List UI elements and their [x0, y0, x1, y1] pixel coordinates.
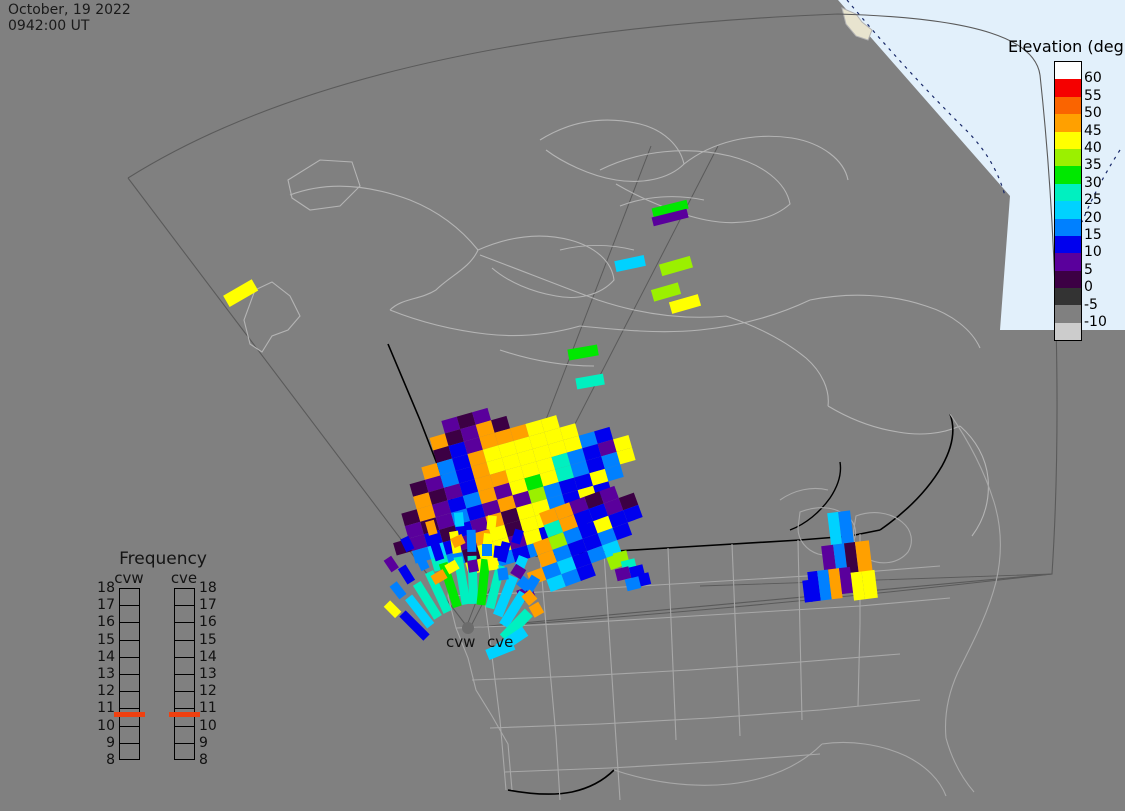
frequency-bar-segment — [120, 675, 139, 692]
frequency-bar-segment — [120, 589, 139, 606]
elevation-color-cell — [1055, 271, 1081, 288]
elevation-color-cell — [1055, 62, 1081, 79]
frequency-tick-label: 15 — [88, 633, 115, 647]
elevation-color-cell — [1055, 149, 1081, 166]
radar-map-canvas: October, 19 20220942:00 UT cvw cve Eleva… — [0, 0, 1125, 811]
elevation-color-cell — [1055, 166, 1081, 183]
frequency-tick-label: 12 — [88, 684, 115, 698]
frequency-bar-segment — [120, 692, 139, 709]
frequency-bar-segment — [175, 606, 194, 623]
frequency-tick-label: 14 — [199, 650, 226, 664]
frequency-bar-segment — [175, 744, 194, 761]
elevation-tick-label: 10 — [1084, 245, 1102, 259]
frequency-tick-label: 17 — [88, 598, 115, 612]
timestamp: October, 19 20220942:00 UT — [8, 2, 131, 34]
elevation-tick-label: 60 — [1084, 71, 1102, 85]
timestamp-time: 0942:00 UT — [8, 18, 89, 34]
elevation-tick-label: 50 — [1084, 106, 1102, 120]
timestamp-date: October, 19 2022 — [8, 2, 131, 18]
frequency-bar-segment — [120, 641, 139, 658]
elevation-color-cell — [1055, 114, 1081, 131]
elevation-color-cell — [1055, 236, 1081, 253]
frequency-tick-label: 13 — [88, 667, 115, 681]
elevation-color-cell — [1055, 132, 1081, 149]
frequency-tick-label: 16 — [88, 615, 115, 629]
site-label-cvw: cvw — [446, 634, 475, 650]
elevation-legend-title: Elevation (deg) — [1008, 38, 1125, 56]
frequency-title: Frequency — [88, 550, 238, 568]
frequency-bar-segment — [120, 727, 139, 744]
elevation-color-cell — [1055, 97, 1081, 114]
frequency-bar-segment — [120, 744, 139, 761]
frequency-marker-cve — [169, 712, 200, 717]
elevation-tick-label: -10 — [1084, 315, 1107, 329]
elevation-tick-label: 25 — [1084, 193, 1102, 207]
frequency-tick-label: 10 — [199, 719, 226, 733]
frequency-tick-label: 13 — [199, 667, 226, 681]
frequency-bar-segment — [175, 641, 194, 658]
elevation-tick-label: 45 — [1084, 124, 1102, 138]
frequency-bar-cve[interactable] — [174, 588, 195, 760]
frequency-tick-label: 8 — [88, 753, 115, 767]
frequency-tick-label: 14 — [88, 650, 115, 664]
elevation-legend: Elevation (deg) 605550454035302520151050… — [1008, 38, 1125, 56]
frequency-tick-label: 18 — [88, 581, 115, 595]
elevation-tick-label: 30 — [1084, 176, 1102, 190]
frequency-tick-label: 12 — [199, 684, 226, 698]
frequency-bar-segment — [175, 658, 194, 675]
frequency-bar-segment — [175, 727, 194, 744]
frequency-bar-cvw[interactable] — [119, 588, 140, 760]
elevation-tick-label: 15 — [1084, 228, 1102, 242]
elevation-tick-label: 0 — [1084, 280, 1093, 294]
frequency-tick-label: 11 — [88, 701, 115, 715]
elevation-colorbar — [1054, 61, 1082, 341]
elevation-tick-label: -5 — [1084, 298, 1098, 312]
frequency-tick-label: 9 — [88, 736, 115, 750]
frequency-tick-label: 8 — [199, 753, 226, 767]
frequency-panel: Frequency cvw cve 1818171716161515141413… — [88, 550, 238, 775]
frequency-tick-label: 18 — [199, 581, 226, 595]
frequency-bar-segment — [175, 692, 194, 709]
elevation-color-cell — [1055, 79, 1081, 96]
elevation-color-cell — [1055, 323, 1081, 340]
frequency-tick-label: 11 — [199, 701, 226, 715]
echo-cell — [567, 200, 701, 390]
frequency-marker-cvw — [114, 712, 145, 717]
elevation-color-cell — [1055, 253, 1081, 270]
frequency-bar-segment — [175, 623, 194, 640]
frequency-bar-segment — [120, 623, 139, 640]
elevation-color-cell — [1055, 305, 1081, 322]
elevation-color-cell — [1055, 201, 1081, 218]
elevation-color-cell — [1055, 219, 1081, 236]
frequency-tick-label: 17 — [199, 598, 226, 612]
frequency-tick-label: 9 — [199, 736, 226, 750]
frequency-bar-segment — [175, 589, 194, 606]
frequency-tick-label: 16 — [199, 615, 226, 629]
echo-cluster-detached — [613, 550, 651, 591]
elevation-tick-label: 40 — [1084, 141, 1102, 155]
elevation-color-cell — [1055, 184, 1081, 201]
frequency-tick-label: 10 — [88, 719, 115, 733]
frequency-tick-label: 15 — [199, 633, 226, 647]
elevation-tick-label: 20 — [1084, 211, 1102, 225]
elevation-color-cell — [1055, 288, 1081, 305]
site-label-cve: cve — [487, 634, 513, 650]
frequency-bar-segment — [120, 606, 139, 623]
elevation-tick-label: 35 — [1084, 158, 1102, 172]
elevation-tick-label: 55 — [1084, 89, 1102, 103]
frequency-bar-segment — [175, 675, 194, 692]
echo-cell — [223, 279, 258, 307]
frequency-bar-segment — [120, 658, 139, 675]
echo-cluster-great-lakes — [794, 508, 877, 606]
elevation-tick-label: 5 — [1084, 263, 1093, 277]
